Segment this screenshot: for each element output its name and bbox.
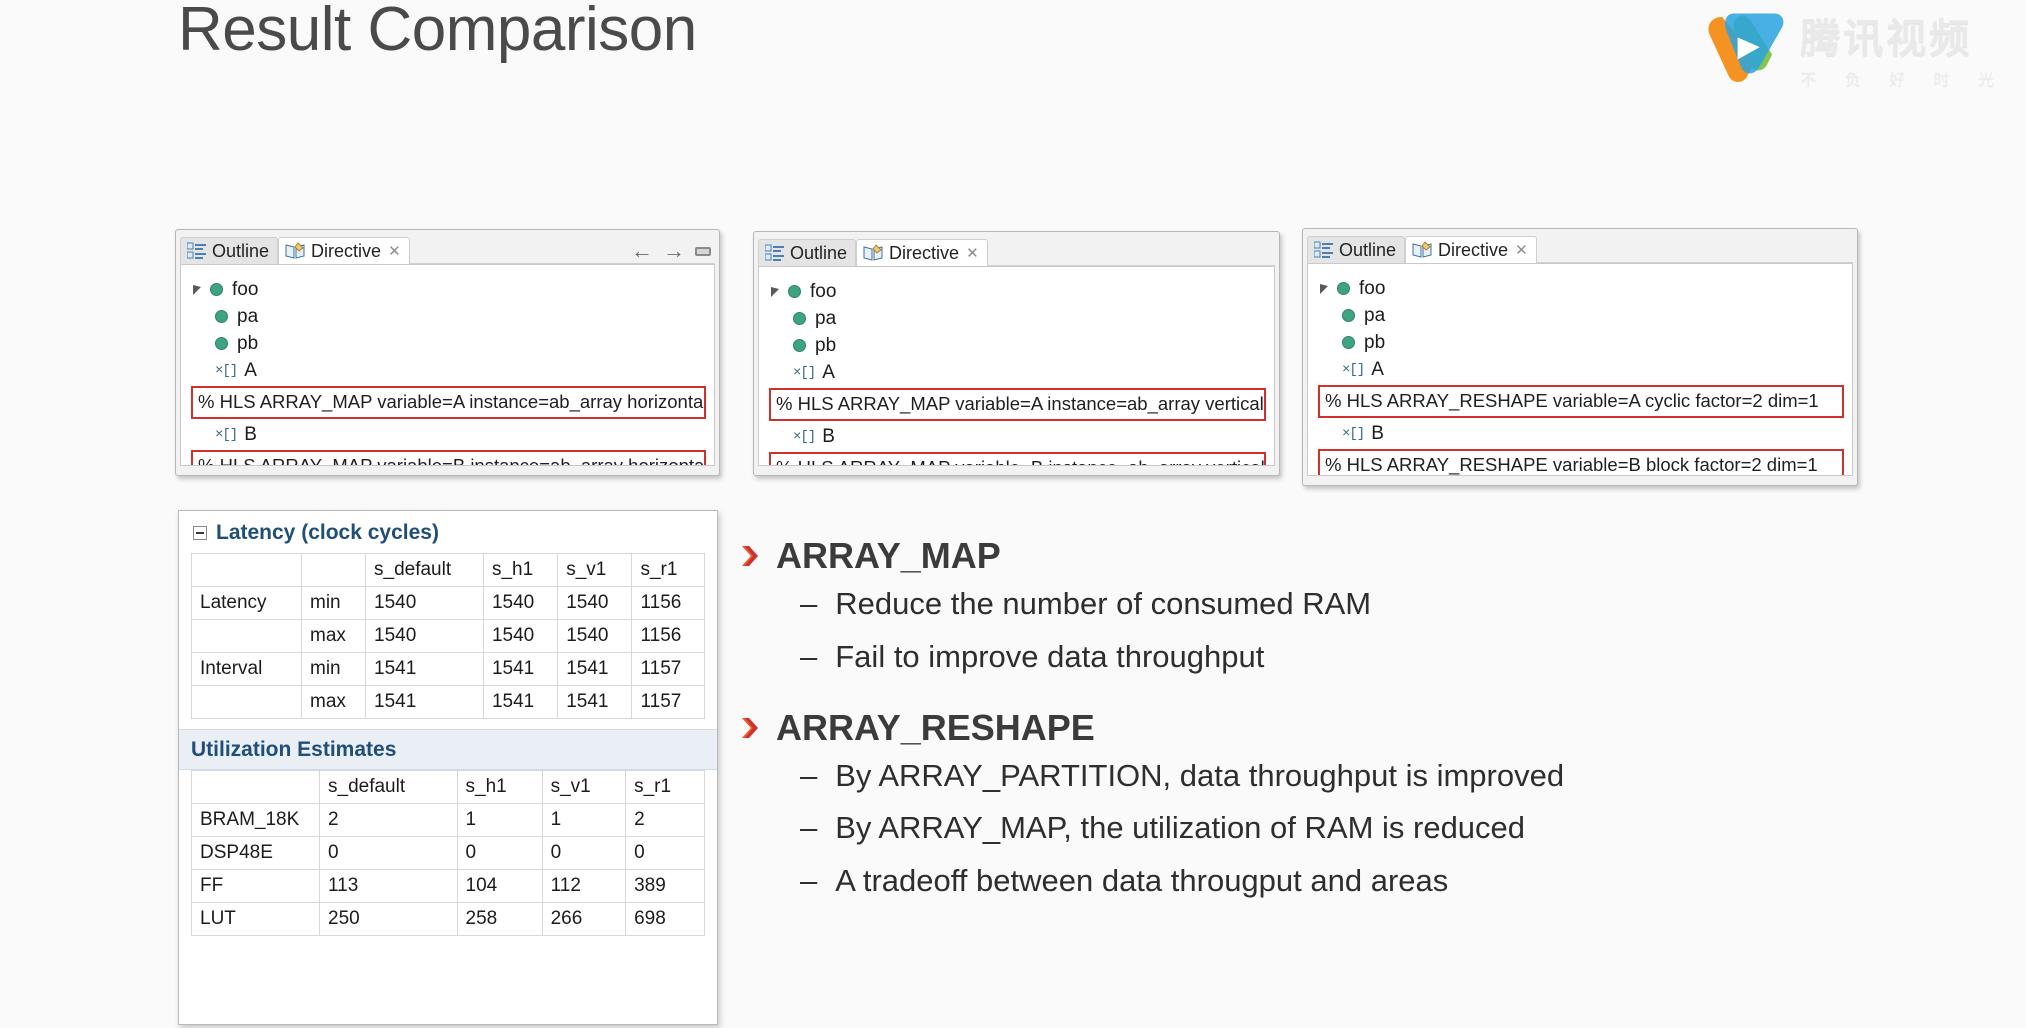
tabbar-filler <box>1028 239 1275 266</box>
tab-close-icon[interactable]: ✕ <box>966 244 979 262</box>
bullet-item-label: By ARRAY_MAP, the utilization of RAM is … <box>835 809 1525 848</box>
table-cell: 1541 <box>483 653 557 686</box>
table-cell: 1541 <box>483 686 557 719</box>
column-header-s_h1: s_h1 <box>457 771 542 804</box>
panel-tabbar: Outline Directive ✕ <box>758 236 1275 266</box>
tree-item-label: foo <box>1359 278 1385 300</box>
bullet-group-spacer <box>740 691 1950 707</box>
row-resource-label: FF <box>192 870 320 903</box>
column-header-s_h1: s_h1 <box>483 554 557 587</box>
tab-label: Outline <box>212 241 269 262</box>
table-cell: 2 <box>626 804 705 837</box>
tab-label: Directive <box>311 241 381 262</box>
latency-section-header[interactable]: Latency (clock cycles) <box>179 511 717 553</box>
table-cell: 250 <box>320 903 458 936</box>
table-cell: 112 <box>542 870 626 903</box>
table-header-row: s_defaults_h1s_v1s_r1 <box>192 554 705 587</box>
table-cell: 1541 <box>558 686 632 719</box>
arrow-right-icon[interactable]: → <box>663 240 685 262</box>
twisty-expanded-icon[interactable] <box>1318 282 1332 296</box>
green-dot-icon <box>1342 309 1355 322</box>
tree-item-label: pb <box>815 335 836 357</box>
tree-item-pa[interactable]: pa <box>181 303 714 330</box>
bullet-item: – By ARRAY_PARTITION, data throughput is… <box>800 757 1950 796</box>
outline-list-icon <box>765 244 785 262</box>
directive-panel-2: Outline Directive ✕ foo pa <box>753 231 1280 476</box>
brand-logo: 腾讯视频 不 负 好 时 光 <box>1704 6 2006 90</box>
tree-item-label: pb <box>237 333 258 355</box>
column-header-s_r1: s_r1 <box>632 554 705 587</box>
array-icon: ×[] <box>215 427 237 443</box>
bullet-item-label: By ARRAY_PARTITION, data throughput is i… <box>835 757 1564 796</box>
table-cell: 1 <box>542 804 626 837</box>
directive-highlight-a[interactable]: % HLS ARRAY_RESHAPE variable=A cyclic fa… <box>1318 385 1844 418</box>
directive-book-icon <box>1412 241 1433 259</box>
panel-toolbar: ← → <box>631 240 711 262</box>
tab-label: Outline <box>790 243 847 264</box>
twisty-expanded-icon[interactable] <box>191 283 205 297</box>
directive-panel-3: Outline Directive ✕ foo pa <box>1302 228 1858 486</box>
panel-tabbar: Outline Directive ✕ ← → <box>180 234 715 264</box>
green-dot-icon <box>1337 282 1350 295</box>
tree-item-pb[interactable]: pb <box>1308 329 1852 356</box>
column-header-s_v1: s_v1 <box>558 554 632 587</box>
table-cell: 0 <box>457 837 542 870</box>
tree-item-array-A[interactable]: ×[] A <box>181 357 714 384</box>
arrow-left-icon[interactable]: ← <box>631 240 653 262</box>
table-row: FF113104112389 <box>192 870 705 903</box>
table-cell: 1540 <box>366 587 484 620</box>
table-cell: 1540 <box>558 587 632 620</box>
tree-item-label: B <box>1371 423 1384 445</box>
table-cell: 1 <box>457 804 542 837</box>
array-icon: ×[] <box>793 429 815 445</box>
tree-item-label: pa <box>237 306 258 328</box>
row-resource-label: BRAM_18K <box>192 804 320 837</box>
table-cell: 1157 <box>632 686 705 719</box>
directive-tree[interactable]: foo pa pb ×[] A % HLS ARRAY_MAP variable… <box>758 266 1275 466</box>
utilization-section-header[interactable]: Utilization Estimates <box>179 729 717 770</box>
utilization-table: s_defaults_h1s_v1s_r1 BRAM_18K2112DSP48E… <box>191 770 705 936</box>
green-dot-icon <box>793 312 806 325</box>
bullet-heading-label: ARRAY_RESHAPE <box>776 707 1095 749</box>
directive-book-icon <box>285 242 306 260</box>
bullet-content: ARRAY_MAP– Reduce the number of consumed… <box>740 535 1950 915</box>
table-cell: 0 <box>320 837 458 870</box>
latency-heading-label: Latency (clock cycles) <box>216 521 439 545</box>
table-cell: 1157 <box>632 653 705 686</box>
directive-book-icon <box>863 244 884 262</box>
row-group-label: Interval <box>192 653 302 686</box>
row-group-label <box>192 686 302 719</box>
table-cell: 389 <box>626 870 705 903</box>
bullet-item: – Reduce the number of consumed RAM <box>800 585 1950 624</box>
dash-marker-icon: – <box>800 641 817 672</box>
tree-item-array-B[interactable]: ×[] B <box>759 423 1274 450</box>
directive-highlight-b[interactable]: % HLS ARRAY_MAP variable=B instance=ab_a… <box>769 452 1266 466</box>
table-cell: 266 <box>542 903 626 936</box>
table-cell: 1541 <box>366 653 484 686</box>
bullet-item: – By ARRAY_MAP, the utilization of RAM i… <box>800 809 1950 848</box>
bullet-item-label: A tradeoff between data througput and ar… <box>835 862 1448 901</box>
bullet-item: – A tradeoff between data througput and … <box>800 862 1950 901</box>
tab-close-icon[interactable]: ✕ <box>388 242 401 260</box>
column-header-blank <box>192 554 302 587</box>
brand-text: 腾讯视频 不 负 好 时 光 <box>1800 6 2006 90</box>
dash-marker-icon: – <box>800 865 817 896</box>
utilization-heading-label: Utilization Estimates <box>191 738 396 762</box>
tree-item-label: foo <box>810 281 836 303</box>
tree-item-foo[interactable]: foo <box>1308 275 1852 302</box>
tree-item-array-B[interactable]: ×[] B <box>1308 420 1852 447</box>
tree-item-pa[interactable]: pa <box>759 305 1274 332</box>
table-cell: 1541 <box>366 686 484 719</box>
tree-item-label: pa <box>815 308 836 330</box>
table-cell: 1156 <box>632 620 705 653</box>
column-header-blank <box>302 554 366 587</box>
tree-item-label: B <box>822 426 835 448</box>
minimize-icon[interactable] <box>695 247 711 256</box>
green-dot-icon <box>793 339 806 352</box>
array-icon: ×[] <box>1342 426 1364 442</box>
outline-list-icon <box>187 242 207 260</box>
tree-item-label: pb <box>1364 332 1385 354</box>
tab-outline[interactable]: Outline <box>1307 236 1405 263</box>
bullet-heading: ARRAY_MAP <box>740 535 1950 577</box>
table-cell: 258 <box>457 903 542 936</box>
tab-label: Directive <box>889 243 959 264</box>
dash-marker-icon: – <box>800 588 817 619</box>
directive-highlight-b[interactable]: % HLS ARRAY_MAP variable=B instance=ab_a… <box>191 450 706 466</box>
collapse-minus-icon[interactable] <box>193 526 207 540</box>
directive-panel-1: Outline Directive ✕ ← → foo <box>175 229 720 476</box>
tree-item-array-B[interactable]: ×[] B <box>181 421 714 448</box>
column-header-s_r1: s_r1 <box>626 771 705 804</box>
tree-item-label: foo <box>232 279 258 301</box>
tree-item-foo[interactable]: foo <box>759 278 1274 305</box>
synthesis-report-panel: Latency (clock cycles) s_defaults_h1s_v1… <box>178 510 718 1025</box>
column-header-s_default: s_default <box>366 554 484 587</box>
table-row: DSP48E0000 <box>192 837 705 870</box>
brand-slogan: 不 负 好 时 光 <box>1800 66 2006 90</box>
table-cell: 104 <box>457 870 542 903</box>
tree-item-foo[interactable]: foo <box>181 276 714 303</box>
tab-trailing-edge <box>1537 236 1577 263</box>
row-stat-label: max <box>302 620 366 653</box>
table-header-row: s_defaults_h1s_v1s_r1 <box>192 771 705 804</box>
green-dot-icon <box>210 283 223 296</box>
tree-item-label: pa <box>1364 305 1385 327</box>
tab-label: Outline <box>1339 240 1396 261</box>
table-cell: 1540 <box>366 620 484 653</box>
array-icon: ×[] <box>793 365 815 381</box>
table-row: LUT250258266698 <box>192 903 705 936</box>
column-header-blank <box>192 771 320 804</box>
green-dot-icon <box>215 310 228 323</box>
panel-tabbar: Outline Directive ✕ <box>1307 233 1853 263</box>
row-resource-label: DSP48E <box>192 837 320 870</box>
row-stat-label: min <box>302 653 366 686</box>
directive-highlight-a[interactable]: % HLS ARRAY_MAP variable=A instance=ab_a… <box>769 388 1266 421</box>
dash-marker-icon: – <box>800 812 817 843</box>
chevron-right-marker-icon <box>740 715 762 741</box>
tab-outline[interactable]: Outline <box>180 237 278 264</box>
array-icon: ×[] <box>1342 362 1364 378</box>
page-title: Result Comparison <box>178 0 697 65</box>
chevron-right-marker-icon <box>740 543 762 569</box>
table-row: Intervalmin1541154115411157 <box>192 653 705 686</box>
row-resource-label: LUT <box>192 903 320 936</box>
table-row: BRAM_18K2112 <box>192 804 705 837</box>
outline-list-icon <box>1314 241 1334 259</box>
column-header-s_default: s_default <box>320 771 458 804</box>
table-cell: 1540 <box>483 620 557 653</box>
table-row: max1541154115411157 <box>192 686 705 719</box>
table-cell: 113 <box>320 870 458 903</box>
bullet-item: – Fail to improve data throughput <box>800 638 1950 677</box>
table-cell: 1540 <box>483 587 557 620</box>
table-cell: 2 <box>320 804 458 837</box>
tab-directive[interactable]: Directive ✕ <box>1405 236 1537 263</box>
tree-item-label: A <box>1371 359 1384 381</box>
green-dot-icon <box>215 337 228 350</box>
table-cell: 698 <box>626 903 705 936</box>
tab-outline[interactable]: Outline <box>758 239 856 266</box>
twisty-expanded-icon[interactable] <box>769 285 783 299</box>
array-icon: ×[] <box>215 363 237 379</box>
tab-directive[interactable]: Directive ✕ <box>278 237 410 264</box>
tree-item-array-A[interactable]: ×[] A <box>1308 356 1852 383</box>
tree-item-label: A <box>244 360 257 382</box>
directive-tree[interactable]: foo pa pb ×[] A % HLS ARRAY_RESHAPE vari… <box>1307 263 1853 476</box>
tab-close-icon[interactable]: ✕ <box>1515 241 1528 259</box>
tree-item-array-A[interactable]: ×[] A <box>759 359 1274 386</box>
tab-directive[interactable]: Directive ✕ <box>856 239 988 266</box>
table-row: max1540154015401156 <box>192 620 705 653</box>
bullet-heading-label: ARRAY_MAP <box>776 535 1001 577</box>
tree-item-pa[interactable]: pa <box>1308 302 1852 329</box>
directive-tree[interactable]: foo pa pb ×[] A % HLS ARRAY_MAP variable… <box>180 264 715 466</box>
green-dot-icon <box>788 285 801 298</box>
brand-name: 腾讯视频 <box>1800 6 2006 64</box>
bullet-item-label: Reduce the number of consumed RAM <box>835 585 1371 624</box>
tree-item-label: B <box>244 424 257 446</box>
table-cell: 1156 <box>632 587 705 620</box>
tencent-video-play-icon <box>1704 10 1786 86</box>
bullet-heading: ARRAY_RESHAPE <box>740 707 1950 749</box>
tree-item-pb[interactable]: pb <box>759 332 1274 359</box>
table-cell: 0 <box>542 837 626 870</box>
table-cell: 0 <box>626 837 705 870</box>
directive-highlight-a[interactable]: % HLS ARRAY_MAP variable=A instance=ab_a… <box>191 386 706 419</box>
tab-trailing-edge <box>988 239 1028 266</box>
row-stat-label: min <box>302 587 366 620</box>
bullet-item-label: Fail to improve data throughput <box>835 638 1264 677</box>
dash-marker-icon: – <box>800 760 817 791</box>
table-cell: 1540 <box>558 620 632 653</box>
row-group-label <box>192 620 302 653</box>
row-group-label: Latency <box>192 587 302 620</box>
row-stat-label: max <box>302 686 366 719</box>
tree-item-label: A <box>822 362 835 384</box>
green-dot-icon <box>1342 336 1355 349</box>
column-header-s_v1: s_v1 <box>542 771 626 804</box>
table-cell: 1541 <box>558 653 632 686</box>
tree-item-pb[interactable]: pb <box>181 330 714 357</box>
directive-highlight-b[interactable]: % HLS ARRAY_RESHAPE variable=B block fac… <box>1318 449 1844 476</box>
tab-label: Directive <box>1438 240 1508 261</box>
tab-trailing-edge <box>410 237 450 264</box>
table-row: Latencymin1540154015401156 <box>192 587 705 620</box>
latency-table: s_defaults_h1s_v1s_r1 Latencymin15401540… <box>191 553 705 719</box>
tabbar-filler <box>1577 236 1853 263</box>
